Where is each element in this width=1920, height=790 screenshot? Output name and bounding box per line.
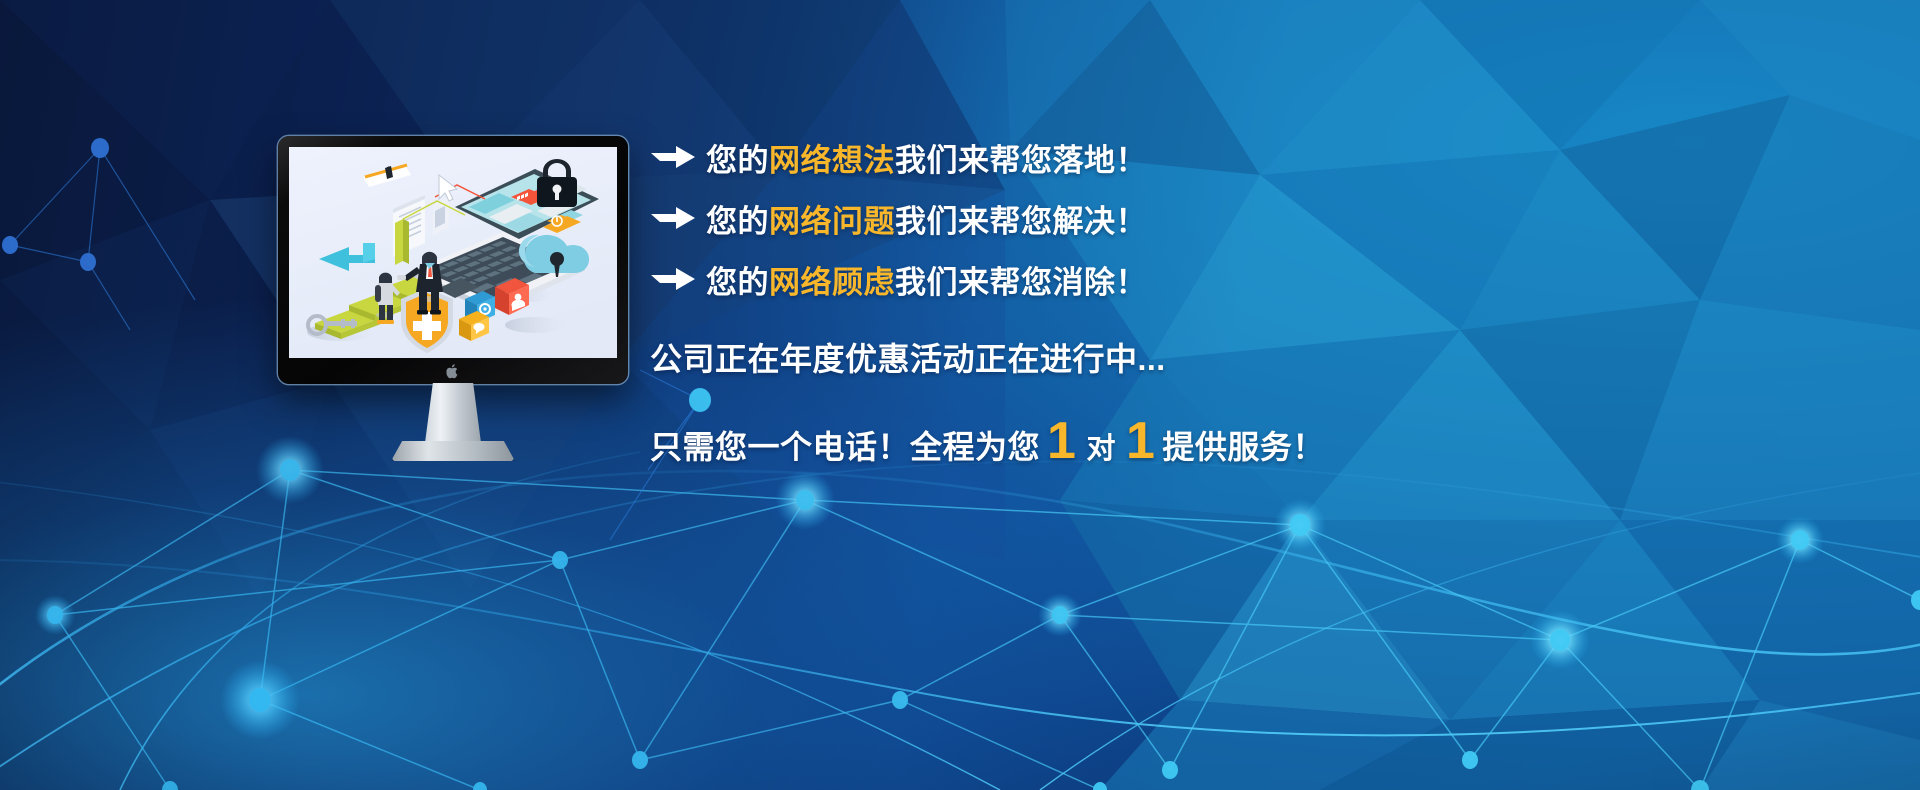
bullet-highlight: 网络顾虑: [769, 265, 895, 300]
bullet-suffix: 我们来帮您解决！: [895, 204, 1147, 239]
cta-tail: 提供服务！: [1162, 422, 1325, 468]
desktop-monitor: [278, 136, 628, 384]
bullet-text: 您的网络问题我们来帮您解决！: [706, 196, 1147, 241]
monitor-stand-neck: [425, 383, 481, 443]
bullet-row: 您的网络想法我们来帮您落地！: [650, 128, 1830, 186]
promo-line: 公司正在年度优惠活动正在进行中...: [650, 334, 1830, 380]
bullet-suffix: 我们来帮您消除！: [895, 265, 1147, 300]
arrow-bullet-icon: [650, 144, 696, 170]
cta-between: 对: [1086, 425, 1116, 467]
monitor-screen: [289, 147, 617, 358]
bullet-highlight: 网络想法: [769, 143, 895, 178]
isometric-network-security-illustration: [289, 147, 617, 358]
bullet-prefix: 您的: [706, 204, 769, 239]
monitor-stand-base: [391, 441, 515, 461]
arrow-bullet-icon: [650, 205, 696, 231]
cta-number-two: 1: [1126, 418, 1155, 465]
bullet-highlight: 网络问题: [769, 204, 895, 239]
cta-line: 只需您一个电话！全程为您 1 对 1 提供服务！: [650, 418, 1830, 468]
marketing-copy: 您的网络想法我们来帮您落地！ 您的网络问题我们来帮您解决！ 您的网络顾虑我们来帮…: [650, 128, 1830, 468]
apple-logo-icon: [447, 364, 460, 379]
bullet-prefix: 您的: [706, 265, 769, 300]
bullet-row: 您的网络顾虑我们来帮您消除！: [650, 250, 1830, 308]
cta-lead: 只需您一个电话！全程为您: [650, 422, 1040, 468]
bullet-prefix: 您的: [706, 143, 769, 178]
promotional-banner: 您的网络想法我们来帮您落地！ 您的网络问题我们来帮您解决！ 您的网络顾虑我们来帮…: [0, 0, 1920, 790]
cta-number-one: 1: [1047, 418, 1076, 465]
monitor-chin: [278, 358, 628, 384]
bullet-row: 您的网络问题我们来帮您解决！: [650, 189, 1830, 247]
bullet-suffix: 我们来帮您落地！: [895, 143, 1147, 178]
bullet-text: 您的网络想法我们来帮您落地！: [706, 135, 1147, 180]
bullet-text: 您的网络顾虑我们来帮您消除！: [706, 257, 1147, 302]
arrow-bullet-icon: [650, 266, 696, 292]
